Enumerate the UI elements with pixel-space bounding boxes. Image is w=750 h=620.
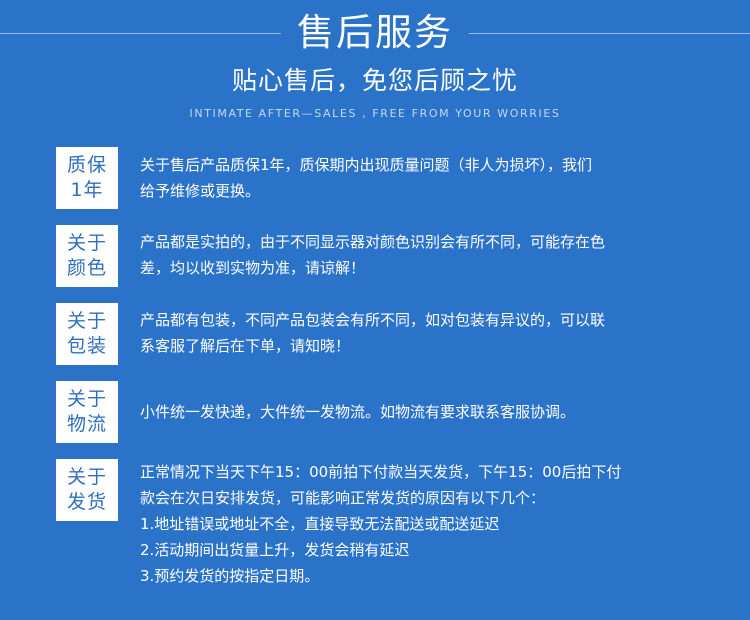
badge-logistics-line2: 物流 bbox=[67, 412, 107, 437]
text-line: 款会在次日安排发货，可能影响正常发货的原因有以下几个： bbox=[140, 485, 732, 511]
service-row-packaging: 关于 包装 产品都有包装，不同产品包装会有所不同，如对包装有异议的，可以联 系客… bbox=[0, 303, 750, 365]
badge-shipping-line1: 关于 bbox=[67, 465, 107, 490]
badge-shipping: 关于 发货 bbox=[56, 459, 118, 521]
badge-color: 关于 颜色 bbox=[56, 225, 118, 287]
service-text-warranty: 关于售后产品质保1年，质保期内出现质量问题（非人为损坏），我们 给予维修或更换。 bbox=[140, 147, 732, 204]
badge-logistics-line1: 关于 bbox=[67, 387, 107, 412]
service-row-shipping: 关于 发货 正常情况下当天下午15：00前拍下付款当天发货，下午15：00后拍下… bbox=[0, 459, 750, 589]
service-row-color: 关于 颜色 产品都是实拍的，由于不同显示器对颜色识别会有所不同，可能存在色 差，… bbox=[0, 225, 750, 287]
page-subtitle: 贴心售后，免您后顾之忧 bbox=[0, 64, 750, 98]
badge-shipping-line2: 发货 bbox=[67, 490, 107, 515]
text-line: 差，均以收到实物为准，请谅解！ bbox=[140, 255, 732, 281]
badge-packaging-line1: 关于 bbox=[67, 309, 107, 334]
title-rule-left bbox=[0, 33, 281, 34]
service-rows: 质保 1年 关于售后产品质保1年，质保期内出现质量问题（非人为损坏），我们 给予… bbox=[0, 140, 750, 589]
text-line: 产品都有包装，不同产品包装会有所不同，如对包装有异议的，可以联 bbox=[140, 307, 732, 333]
badge-warranty-line1: 质保 bbox=[67, 153, 107, 178]
title-row: 售后服务 bbox=[0, 6, 750, 60]
text-line: 关于售后产品质保1年，质保期内出现质量问题（非人为损坏），我们 bbox=[140, 152, 732, 178]
badge-warranty: 质保 1年 bbox=[56, 147, 118, 209]
badge-logistics: 关于 物流 bbox=[56, 381, 118, 443]
text-line: 1.地址错误或地址不全，直接导致无法配送或配送延迟 bbox=[140, 511, 732, 537]
text-line: 产品都是实拍的，由于不同显示器对颜色识别会有所不同，可能存在色 bbox=[140, 229, 732, 255]
text-line: 正常情况下当天下午15：00前拍下付款当天发货，下午15：00后拍下付 bbox=[140, 459, 732, 485]
badge-color-line1: 关于 bbox=[67, 231, 107, 256]
badge-color-line2: 颜色 bbox=[67, 256, 107, 281]
service-text-shipping: 正常情况下当天下午15：00前拍下付款当天发货，下午15：00后拍下付 款会在次… bbox=[140, 459, 732, 589]
service-text-logistics: 小件统一发快递，大件统一发物流。如物流有要求联系客服协调。 bbox=[140, 381, 732, 425]
text-line: 系客服了解后在下单，请知晓！ bbox=[140, 333, 732, 359]
page-title: 售后服务 bbox=[281, 11, 469, 55]
text-line: 小件统一发快递，大件统一发物流。如物流有要求联系客服协调。 bbox=[140, 399, 732, 425]
badge-packaging: 关于 包装 bbox=[56, 303, 118, 365]
page-english-subtitle: INTIMATE AFTER—SALES , FREE FROM YOUR WO… bbox=[0, 106, 750, 122]
service-row-warranty: 质保 1年 关于售后产品质保1年，质保期内出现质量问题（非人为损坏），我们 给予… bbox=[0, 147, 750, 209]
text-line: 3.预约发货的按指定日期。 bbox=[140, 563, 732, 589]
text-line: 2.活动期间出货量上升，发货会稍有延迟 bbox=[140, 537, 732, 563]
service-text-packaging: 产品都有包装，不同产品包装会有所不同，如对包装有异议的，可以联 系客服了解后在下… bbox=[140, 303, 732, 359]
service-row-logistics: 关于 物流 小件统一发快递，大件统一发物流。如物流有要求联系客服协调。 bbox=[0, 381, 750, 443]
page-header: 售后服务 贴心售后，免您后顾之忧 INTIMATE AFTER—SALES , … bbox=[0, 0, 750, 140]
title-rule-right bbox=[469, 33, 750, 34]
service-text-color: 产品都是实拍的，由于不同显示器对颜色识别会有所不同，可能存在色 差，均以收到实物… bbox=[140, 225, 732, 281]
text-line: 给予维修或更换。 bbox=[140, 178, 732, 204]
badge-warranty-line2: 1年 bbox=[70, 178, 103, 203]
badge-packaging-line2: 包装 bbox=[67, 334, 107, 359]
